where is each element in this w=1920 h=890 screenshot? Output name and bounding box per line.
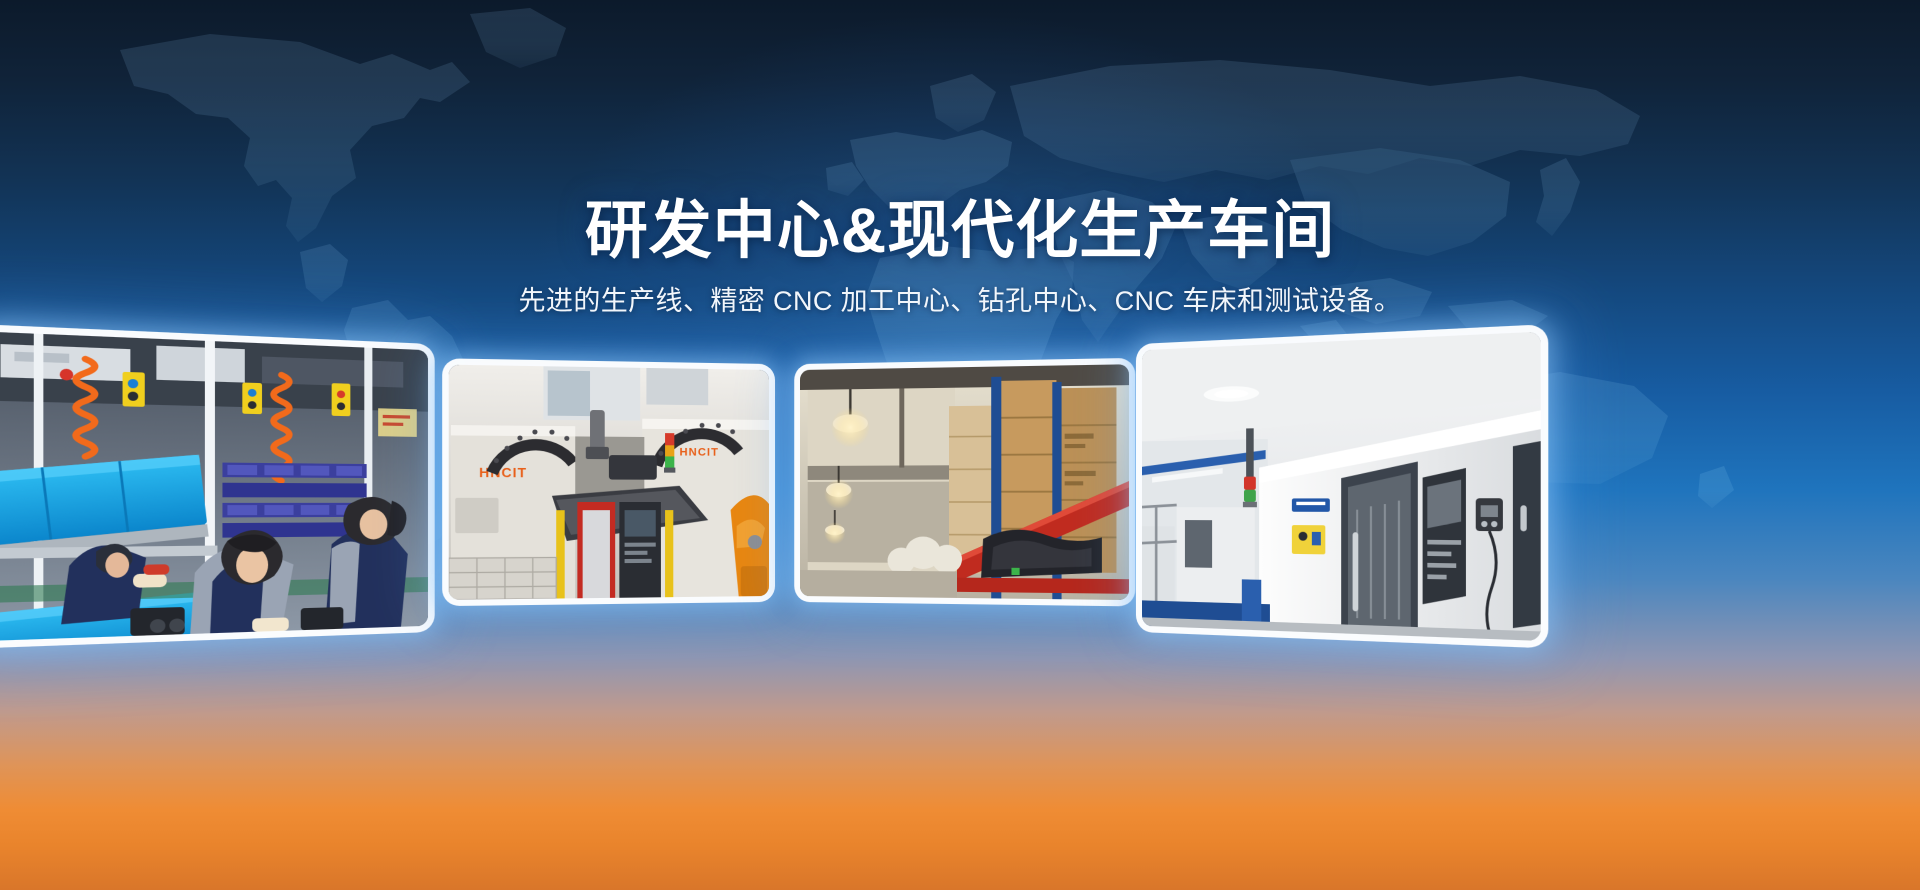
cnc-lathe-room-photo <box>1142 332 1541 641</box>
stack-light <box>664 433 675 473</box>
page-title: 研发中心&现代化生产车间 <box>0 196 1920 267</box>
gallery-card-cnc-lathe-room[interactable] <box>1142 332 1541 641</box>
warehouse-storage-photo <box>800 364 1129 600</box>
banner-text-block: 研发中心&现代化生产车间 先进的生产线、精密 CNC 加工中心、钻孔中心、CNC… <box>0 196 1920 319</box>
cnc-machining-center-photo: HNCIT HNCIT <box>449 365 769 600</box>
photo-gallery: HNCIT HNCIT <box>0 352 1920 652</box>
gallery-card-cnc-center[interactable]: HNCIT HNCIT <box>449 365 769 600</box>
machine-tower-light <box>1243 477 1257 508</box>
gallery-card-warehouse[interactable] <box>800 364 1129 600</box>
page-subtitle: 先进的生产线、精密 CNC 加工中心、钻孔中心、CNC 车床和测试设备。 <box>0 283 1920 319</box>
svg-text:HNCIT: HNCIT <box>679 446 718 458</box>
assembly-line-photo <box>0 331 428 641</box>
gallery-card-assembly-line[interactable] <box>0 331 428 641</box>
hero-banner: 研发中心&现代化生产车间 先进的生产线、精密 CNC 加工中心、钻孔中心、CNC… <box>0 0 1920 890</box>
svg-text:HNCIT: HNCIT <box>479 465 527 481</box>
